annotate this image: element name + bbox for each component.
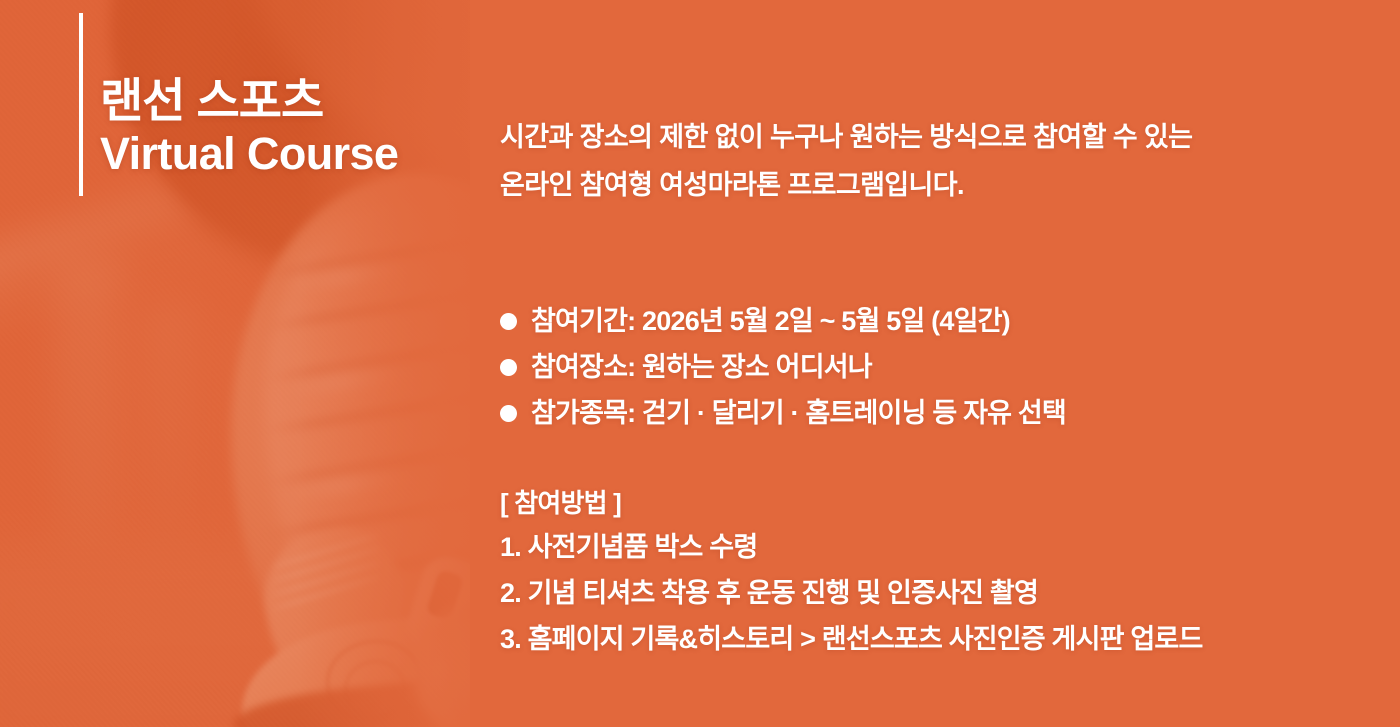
vertical-accent-bar bbox=[79, 13, 83, 196]
fact-item-label: 참여기간: 2026년 5월 2일 ~ 5월 5일 (4일간) bbox=[531, 298, 1010, 344]
fact-item-place: 참여장소: 원하는 장소 어디서나 bbox=[500, 344, 1066, 390]
bullet-dot-icon bbox=[500, 359, 517, 376]
lead-line-2: 온라인 참여형 여성마라톤 프로그램입니다. bbox=[500, 161, 1192, 209]
title-block: 랜선 스포츠 Virtual Course bbox=[100, 76, 398, 179]
howto-step-3: 3. 홈페이지 기록&히스토리 > 랜선스포츠 사진인증 게시판 업로드 bbox=[500, 616, 1203, 662]
fact-item-category: 참가종목: 걷기 · 달리기 · 홈트레이닝 등 자유 선택 bbox=[500, 390, 1066, 436]
fact-item-label: 참여장소: 원하는 장소 어디서나 bbox=[531, 344, 872, 390]
howto-step-1: 1. 사전기념품 박스 수령 bbox=[500, 524, 1203, 570]
fact-item-label: 참가종목: 걷기 · 달리기 · 홈트레이닝 등 자유 선택 bbox=[531, 390, 1066, 436]
page-title-korean: 랜선 스포츠 bbox=[100, 76, 398, 127]
bullet-dot-icon bbox=[500, 313, 517, 330]
fact-item-period: 참여기간: 2026년 5월 2일 ~ 5월 5일 (4일간) bbox=[500, 298, 1066, 344]
fact-list: 참여기간: 2026년 5월 2일 ~ 5월 5일 (4일간) 참여장소: 원하… bbox=[500, 298, 1066, 436]
banner-content: 랜선 스포츠 Virtual Course 시간과 장소의 제한 없이 누구나 … bbox=[0, 0, 1400, 727]
howto-step-2: 2. 기념 티셔츠 착용 후 운동 진행 및 인증사진 촬영 bbox=[500, 570, 1203, 616]
bullet-dot-icon bbox=[500, 405, 517, 422]
page-title-english: Virtual Course bbox=[100, 129, 398, 179]
lead-description: 시간과 장소의 제한 없이 누구나 원하는 방식으로 참여할 수 있는 온라인 … bbox=[500, 113, 1192, 209]
lead-line-1: 시간과 장소의 제한 없이 누구나 원하는 방식으로 참여할 수 있는 bbox=[500, 113, 1192, 161]
howto-heading: [ 참여방법 ] bbox=[500, 482, 1203, 524]
howto-block: [ 참여방법 ] 1. 사전기념품 박스 수령 2. 기념 티셔츠 착용 후 운… bbox=[500, 482, 1203, 662]
virtual-course-banner: 랜선 스포츠 Virtual Course 시간과 장소의 제한 없이 누구나 … bbox=[0, 0, 1400, 727]
